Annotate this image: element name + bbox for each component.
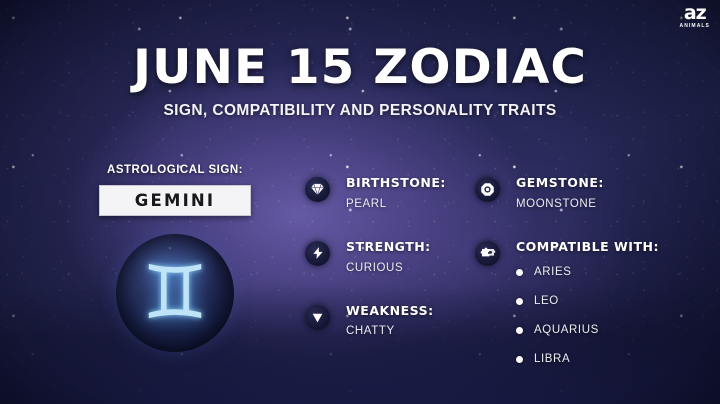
bullet-icon: [516, 298, 523, 305]
compatible-sign-label: LEO: [534, 295, 559, 307]
list-item: AQUARIUS: [516, 324, 700, 336]
list-item: LEO: [516, 295, 700, 307]
puzzle-piece-icon: [475, 241, 500, 266]
header: JUNE 15 ZODIAC SIGN, COMPATIBILITY AND P…: [0, 44, 720, 120]
attribute-weakness-label: WEAKNESS:: [346, 304, 470, 318]
astrological-sign-box: GEMINI: [99, 185, 251, 216]
bullet-icon: [516, 269, 523, 276]
attribute-birthstone-value: PEARL: [346, 198, 470, 210]
compatible-sign-label: ARIES: [534, 266, 572, 278]
attributes-column-middle: BIRTHSTONE: PEARL STRENGTH: CURIOUS WEAK…: [305, 176, 470, 367]
down-triangle-icon: [305, 305, 330, 330]
compatible-sign-label: AQUARIUS: [534, 324, 599, 336]
attribute-weakness: WEAKNESS: CHATTY: [305, 304, 470, 338]
page-subtitle: SIGN, COMPATIBILITY AND PERSONALITY TRAI…: [0, 102, 720, 120]
attribute-strength-value: CURIOUS: [346, 262, 470, 274]
list-item: LIBRA: [516, 353, 700, 365]
attribute-compatible-with: COMPATIBLE WITH: ARIES LEO AQUARIUS LIBR…: [475, 240, 700, 365]
gemini-glyph-icon: ♊: [142, 256, 208, 330]
bullet-icon: [516, 327, 523, 334]
compatible-signs-list: ARIES LEO AQUARIUS LIBRA: [516, 266, 700, 365]
attribute-strength-label: STRENGTH:: [346, 240, 470, 254]
list-item: ARIES: [516, 266, 700, 278]
compatible-sign-label: LIBRA: [534, 353, 570, 365]
astrological-sign-name: GEMINI: [135, 191, 216, 210]
attribute-birthstone-label: BIRTHSTONE:: [346, 176, 470, 190]
brand-logo-mark: az: [680, 4, 710, 23]
attribute-gemstone-label: GEMSTONE:: [516, 176, 700, 190]
attribute-gemstone-value: MOONSTONE: [516, 198, 700, 210]
diamond-gem-icon: [305, 177, 330, 202]
attribute-weakness-value: CHATTY: [346, 325, 470, 337]
brand-logo-subtext: ANIMALS: [680, 24, 710, 29]
attribute-compatible-with-label: COMPATIBLE WITH:: [516, 240, 700, 254]
zodiac-infographic: az ANIMALS JUNE 15 ZODIAC SIGN, COMPATIB…: [0, 0, 720, 404]
astrological-sign-caption: ASTROLOGICAL SIGN:: [60, 164, 290, 176]
attribute-gemstone: GEMSTONE: MOONSTONE: [475, 176, 700, 210]
attribute-birthstone: BIRTHSTONE: PEARL: [305, 176, 470, 210]
attribute-strength: STRENGTH: CURIOUS: [305, 240, 470, 274]
brand-logo: az ANIMALS: [680, 4, 710, 29]
gemini-emblem: ♊: [116, 234, 234, 352]
astrological-sign-block: ASTROLOGICAL SIGN: GEMINI ♊: [60, 164, 290, 216]
attributes-column-right: GEMSTONE: MOONSTONE COMPATIBLE WITH: ARI…: [475, 176, 700, 395]
faceted-gem-icon: [475, 177, 500, 202]
lightning-bolt-icon: [305, 241, 330, 266]
bullet-icon: [516, 356, 523, 363]
page-title: JUNE 15 ZODIAC: [0, 44, 720, 91]
